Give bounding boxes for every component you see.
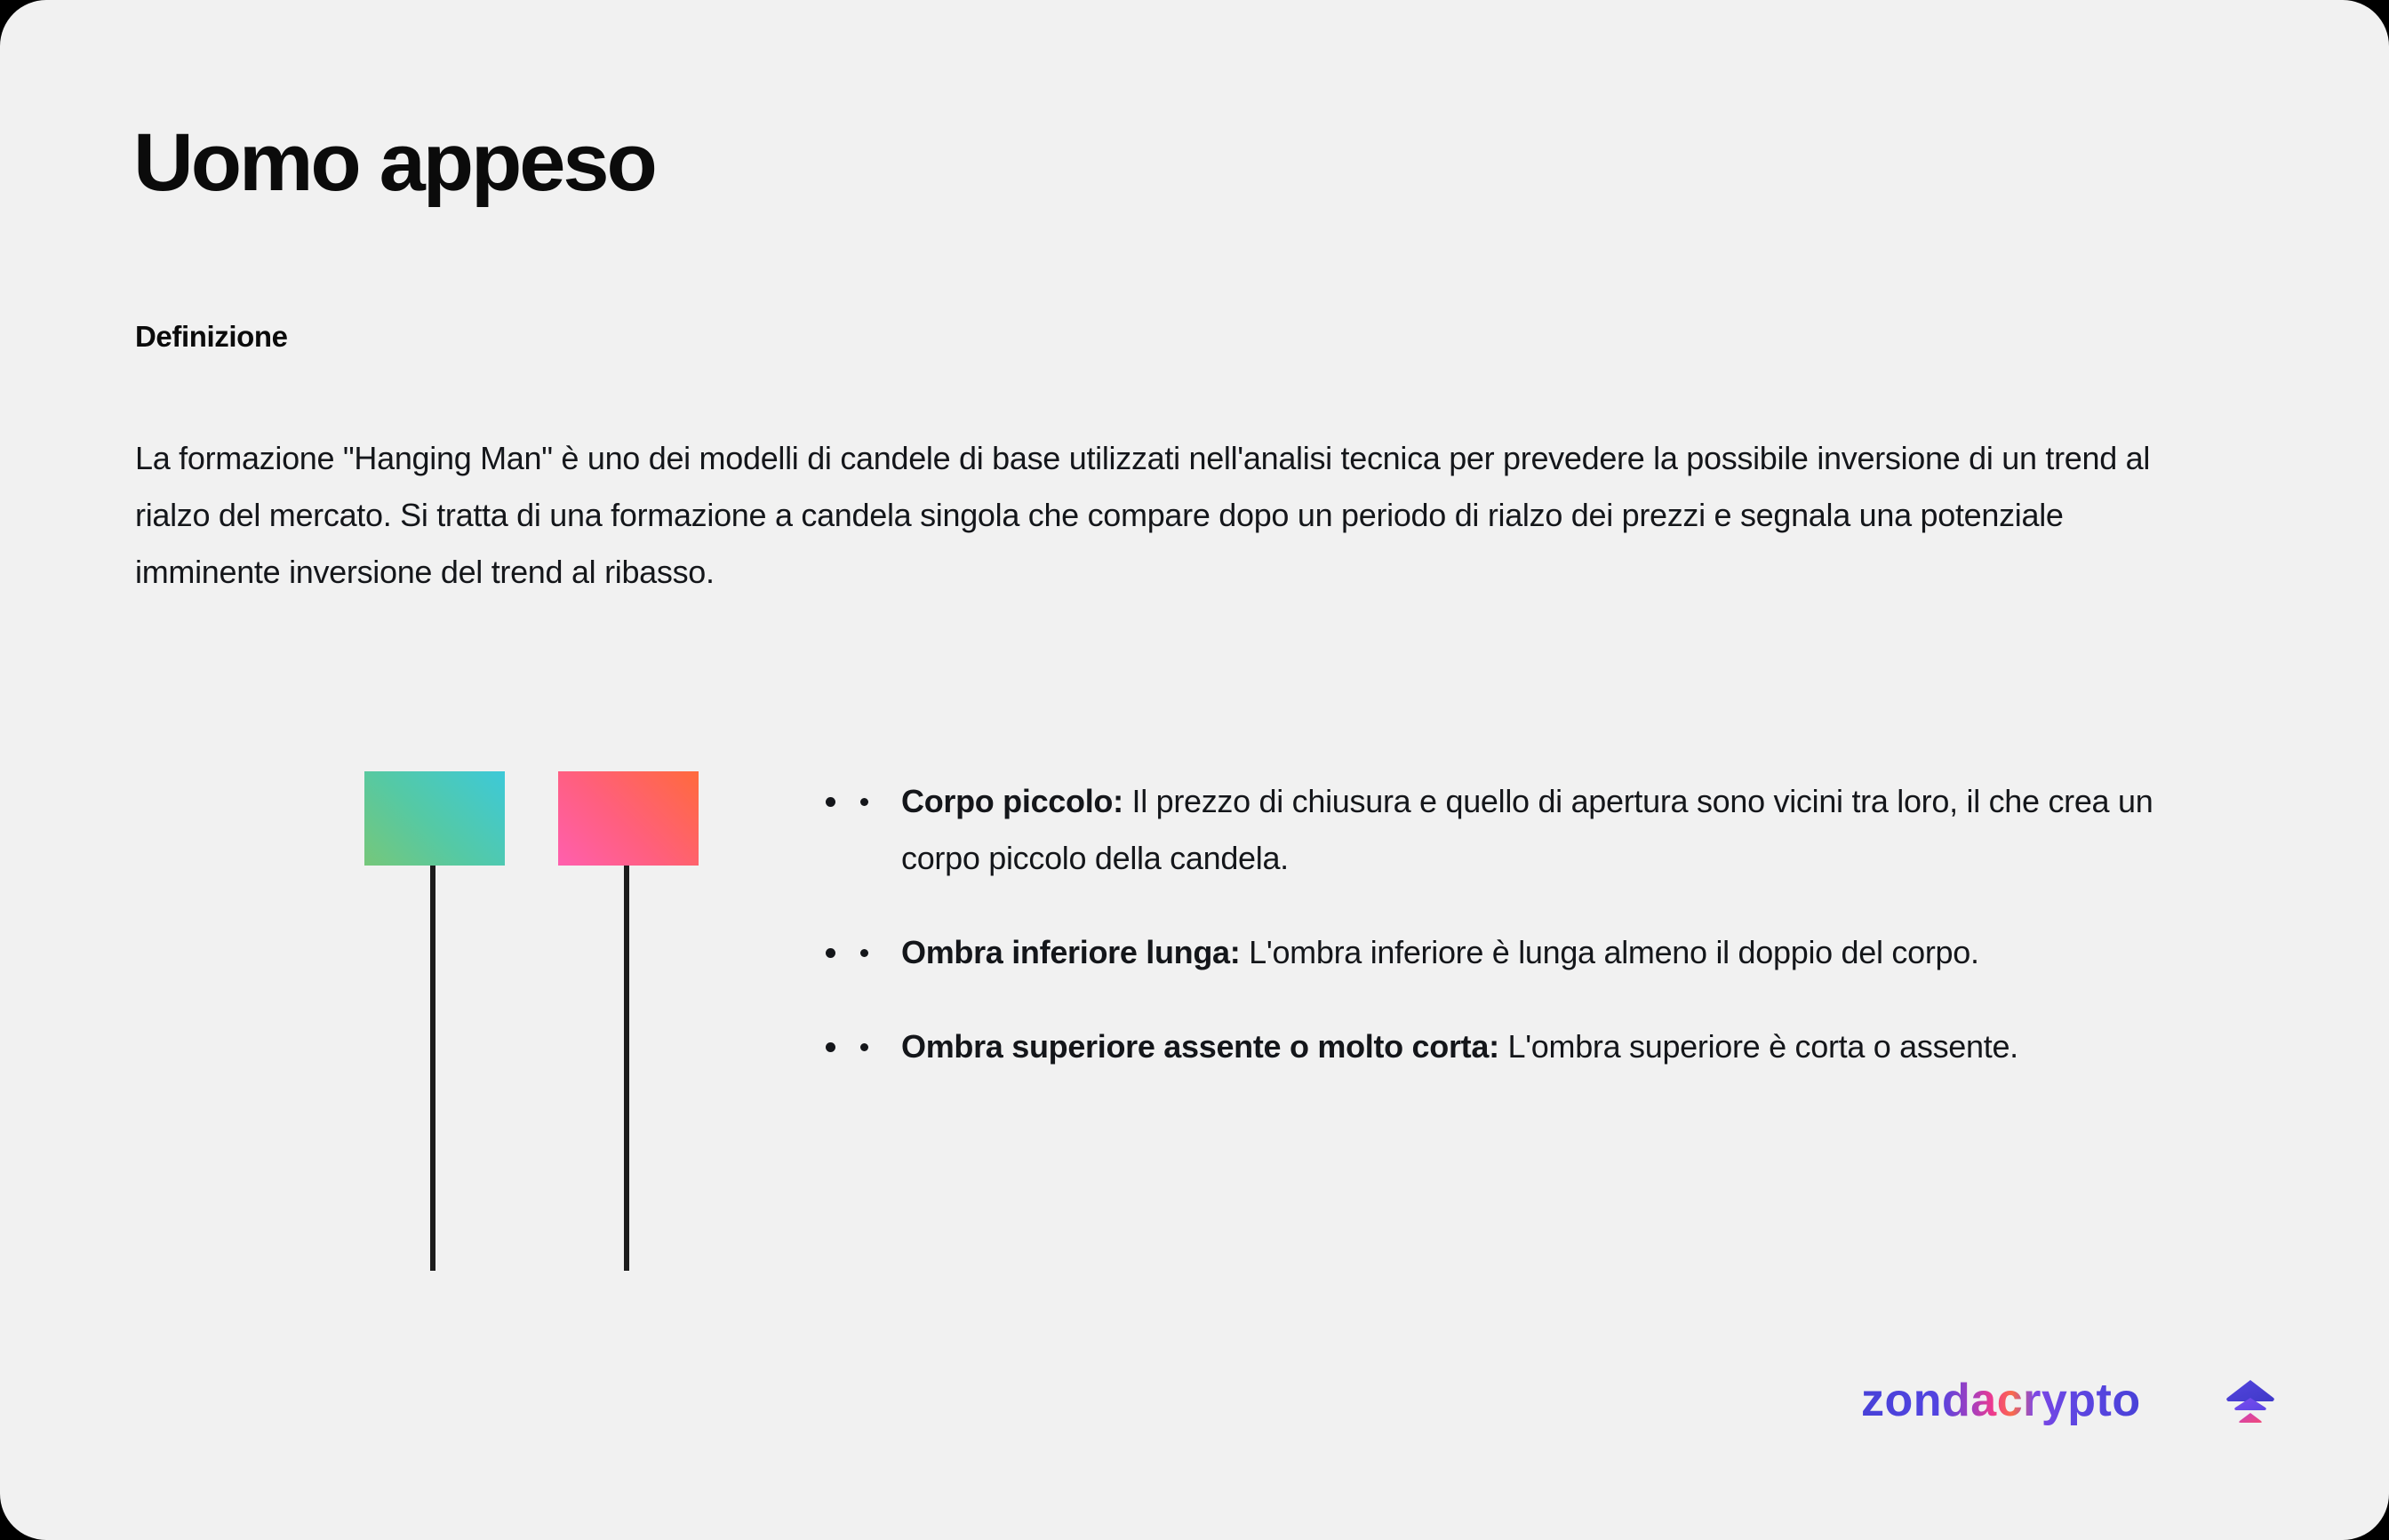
zondacrypto-arrow-mark-icon <box>2225 1378 2275 1426</box>
list-item-text: L'ombra superiore è corta o assente. <box>1499 1028 2018 1065</box>
svg-text:zondacrypto: zondacrypto <box>1861 1376 2141 1426</box>
zondacrypto-wordmark: zondacrypto <box>1861 1376 2217 1429</box>
zondacrypto-logo: zondacrypto <box>1861 1376 2275 1429</box>
list-item: Ombra superiore assente o molto corta: L… <box>851 1018 2185 1075</box>
bullet-dot-icon <box>860 798 868 806</box>
definition-paragraph: La formazione "Hanging Man" è uno dei mo… <box>135 430 2197 601</box>
page-title: Uomo appeso <box>133 122 655 203</box>
list-item: Ombra inferiore lunga: L'ombra inferiore… <box>851 924 2185 981</box>
candle-body-bearish <box>558 771 699 866</box>
candle-body-bullish <box>364 771 505 866</box>
list-item: Corpo piccolo: Il prezzo di chiusura e q… <box>851 773 2185 887</box>
section-heading-definition: Definizione <box>135 320 288 354</box>
bullet-dot-icon <box>860 1043 868 1051</box>
hanging-man-info-card: Uomo appeso Definizione La formazione "H… <box>0 0 2389 1540</box>
list-item-label: Corpo piccolo: <box>901 783 1123 819</box>
candle-lower-shadow-bearish <box>624 866 629 1271</box>
candle-lower-shadow-bullish <box>430 866 435 1271</box>
list-item-label: Ombra superiore assente o molto corta: <box>901 1028 1499 1065</box>
list-item-text: L'ombra inferiore è lunga almeno il dopp… <box>1240 934 1978 970</box>
characteristics-list: Corpo piccolo: Il prezzo di chiusura e q… <box>851 773 2185 1075</box>
candlestick-illustration <box>338 755 711 1289</box>
bullet-dot-icon <box>860 949 868 957</box>
list-item-label: Ombra inferiore lunga: <box>901 934 1240 970</box>
